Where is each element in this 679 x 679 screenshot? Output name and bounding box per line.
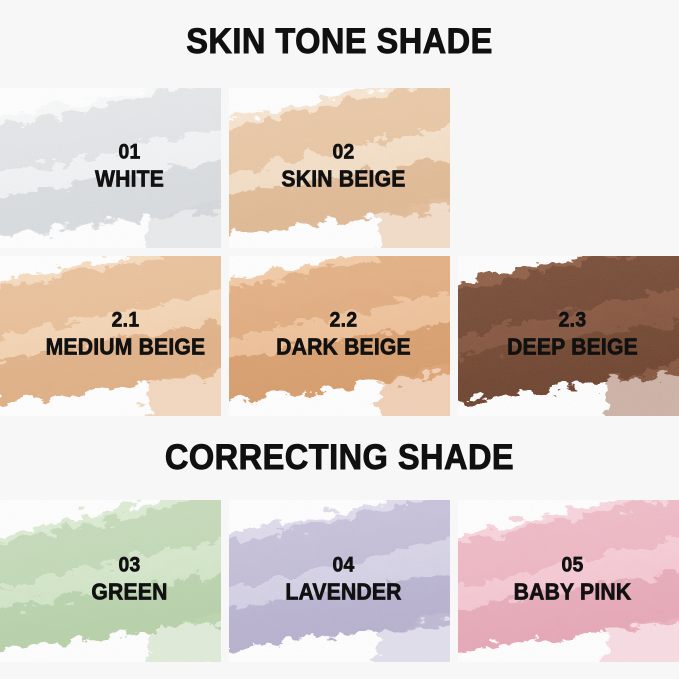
section-title-correcting: CORRECTING SHADE <box>24 440 655 475</box>
swatch-04-lavender[interactable]: 04 LAVENDER <box>229 500 450 662</box>
swatch-02-skin-beige[interactable]: 02 SKIN BEIGE <box>229 88 450 248</box>
powder-texture-medium-beige <box>0 256 221 416</box>
powder-texture-white <box>0 88 221 248</box>
swatch-23-deep-beige[interactable]: 2.3 DEEP BEIGE <box>458 256 679 416</box>
swatch-gap <box>450 256 458 416</box>
swatch-05-baby-pink[interactable]: 05 BABY PINK <box>458 500 679 662</box>
swatch-row-skin-tone-1: 01 WHITE <box>0 88 679 248</box>
swatch-gap <box>221 88 229 248</box>
swatch-21-medium-beige[interactable]: 2.1 MEDIUM BEIGE <box>0 256 221 416</box>
swatch-row-skin-tone-2: 2.1 MEDIUM BEIGE <box>0 256 679 416</box>
swatch-01-white[interactable]: 01 WHITE <box>0 88 221 248</box>
swatch-03-green[interactable]: 03 GREEN <box>0 500 221 662</box>
powder-texture-deep-beige <box>458 256 679 416</box>
swatch-gap <box>221 256 229 416</box>
powder-texture-lavender <box>229 500 450 662</box>
powder-texture-baby-pink <box>458 500 679 662</box>
powder-texture-dark-beige <box>229 256 450 416</box>
swatch-22-dark-beige[interactable]: 2.2 DARK BEIGE <box>229 256 450 416</box>
swatch-row-correcting-1: 03 GREEN <box>0 500 679 662</box>
powder-texture-skin-beige <box>229 88 450 248</box>
powder-texture-green <box>0 500 221 662</box>
swatch-gap <box>450 500 458 662</box>
swatch-gap <box>221 500 229 662</box>
section-title-skin-tone: SKIN TONE SHADE <box>24 24 655 59</box>
shade-chart-page: SKIN TONE SHADE <box>0 0 679 679</box>
